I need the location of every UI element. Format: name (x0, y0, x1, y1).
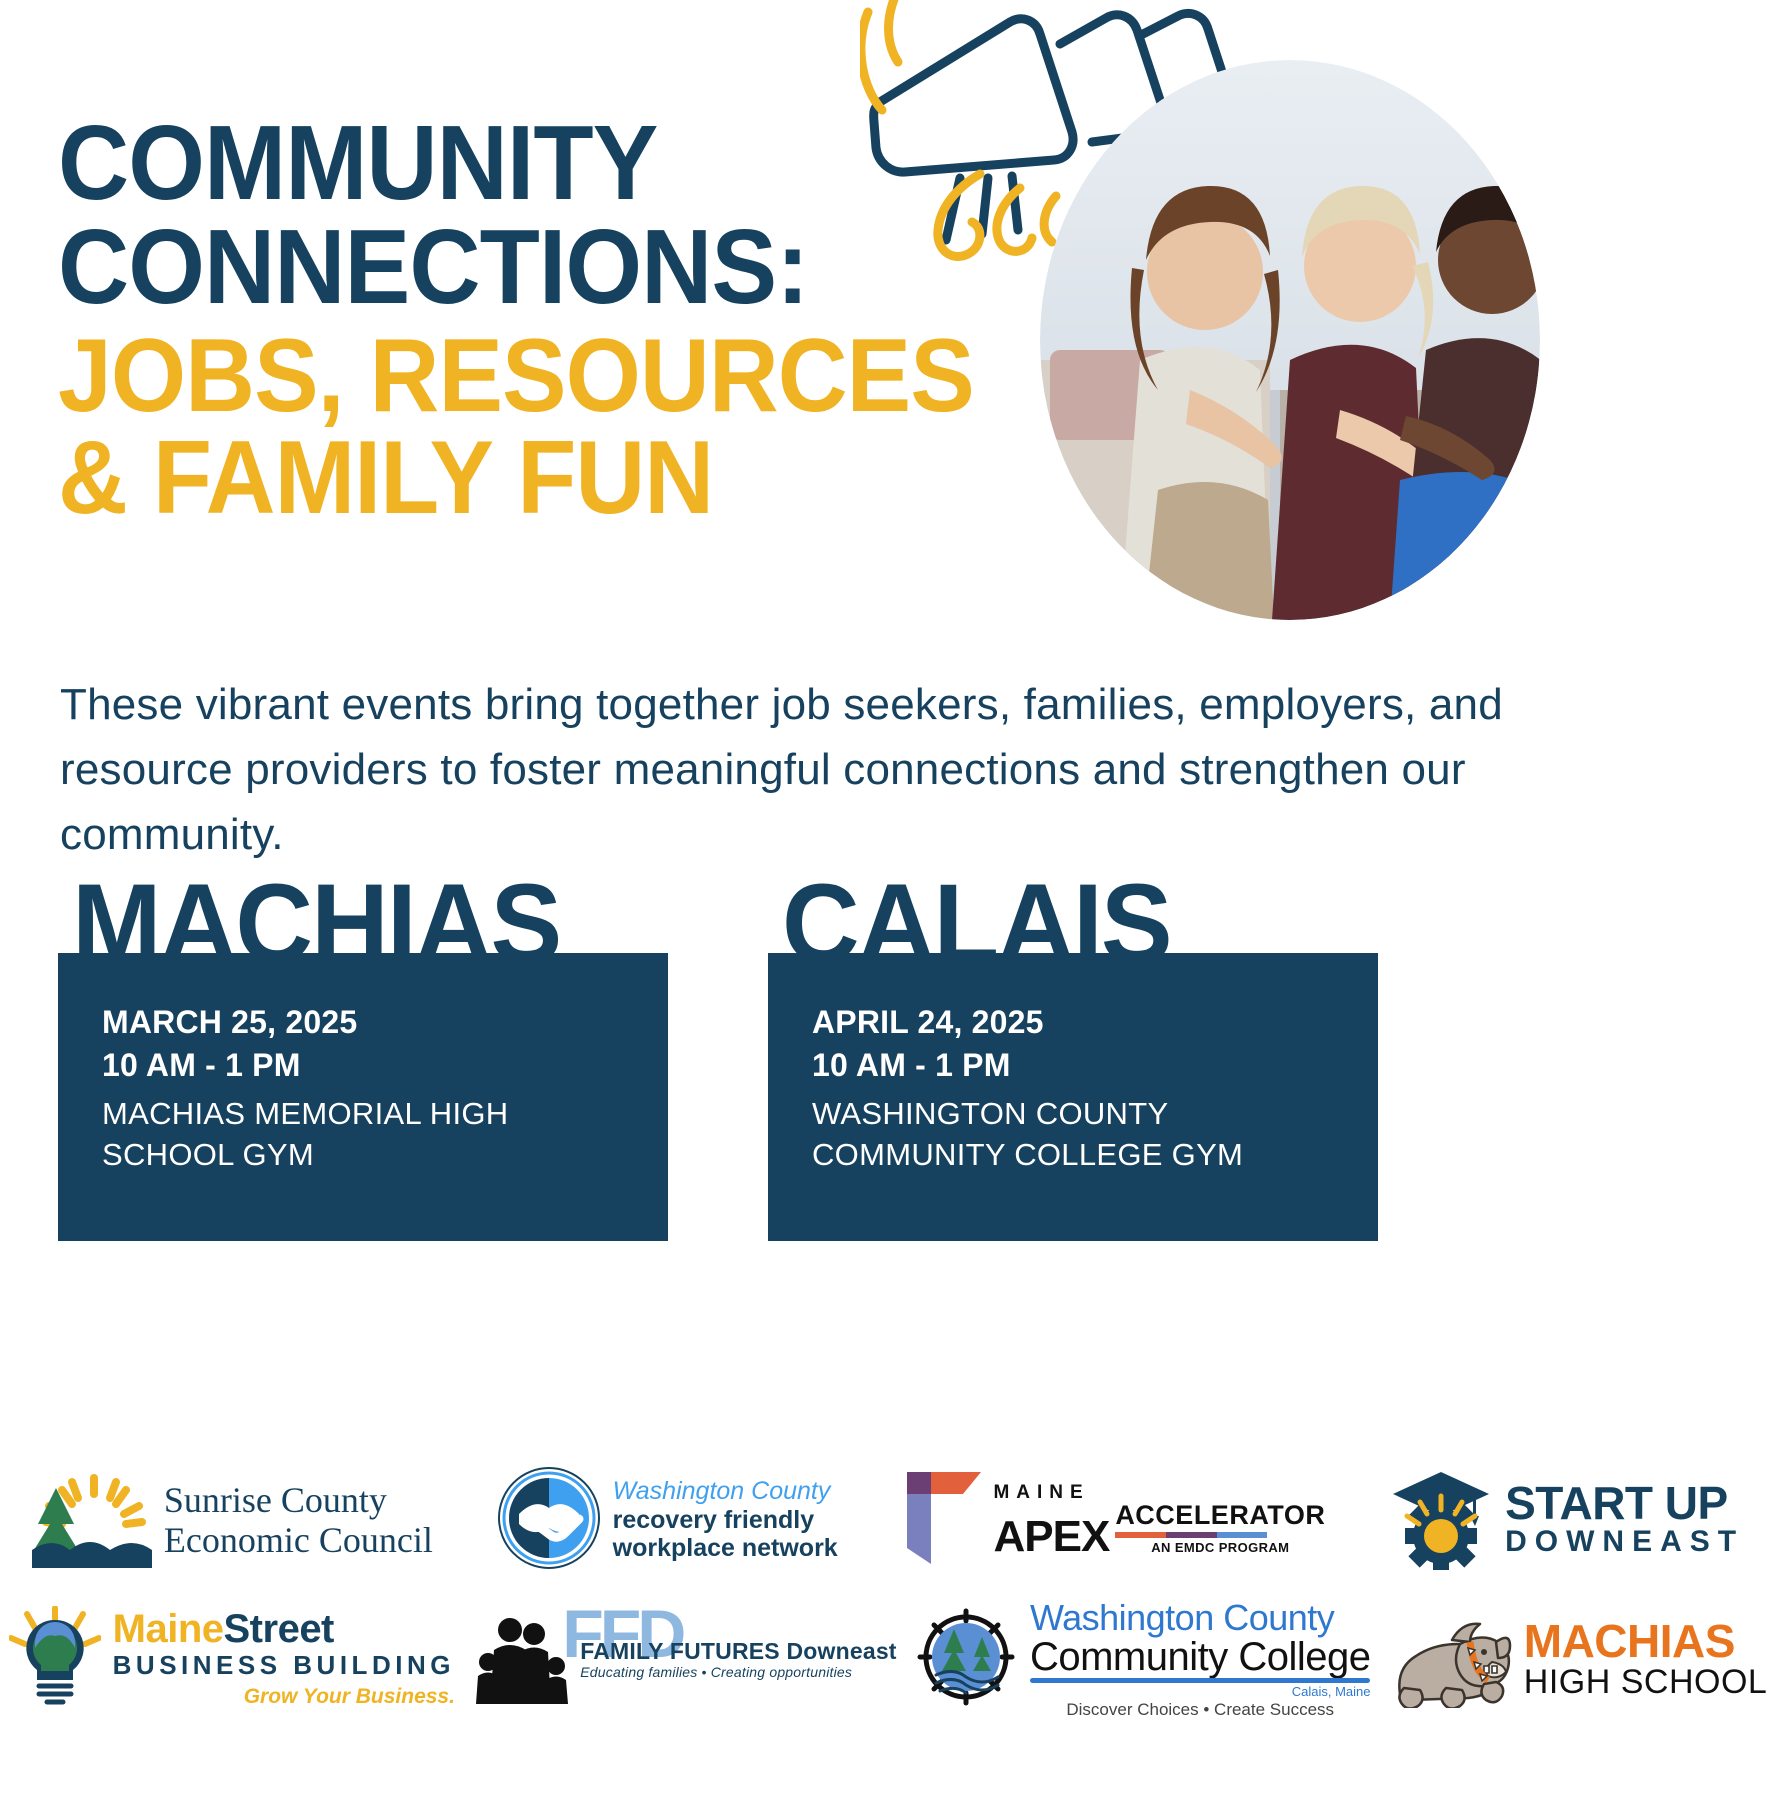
event-venue-line-1: WASHINGTON COUNTY (812, 1093, 1334, 1134)
intro-paragraph: These vibrant events bring together job … (60, 672, 1510, 867)
logo-text-subtitle: AN EMDC PROGRAM (1115, 1540, 1325, 1555)
logo-divider (1030, 1678, 1371, 1683)
event-list: MACHIAS MARCH 25, 2025 10 AM - 1 PM MACH… (58, 872, 1378, 1241)
logo-recovery-friendly-workplace-network: Washington County recovery friendly work… (497, 1466, 838, 1575)
logo-text-line-2: HIGH SCHOOL (1524, 1664, 1768, 1701)
event-details: MARCH 25, 2025 10 AM - 1 PM MACHIAS MEMO… (58, 953, 668, 1241)
event-venue-line-2: COMMUNITY COLLEGE GYM (812, 1134, 1334, 1175)
logo-tagline: Educating families • Creating opportunit… (580, 1664, 896, 1681)
logo-text-family-futures: FAMILY FUTURES (580, 1638, 780, 1664)
logo-start-up-downeast: START UP DOWNEAST (1389, 1466, 1744, 1575)
compass-pines-river-icon (914, 1605, 1018, 1714)
sponsor-row-2: MaineStreet BUSINESS BUILDING Grow Your … (0, 1590, 1776, 1730)
logo-tagline: Grow Your Business. (113, 1683, 455, 1710)
event-card-calais: CALAIS APRIL 24, 2025 10 AM - 1 PM WASHI… (768, 872, 1378, 1241)
logo-text-maine: Maine (113, 1607, 224, 1651)
bulldog-mascot-icon (1388, 1608, 1512, 1713)
page-title: COMMUNITY CONNECTIONS: JOBS, RESOURCES &… (58, 112, 1058, 530)
logo-text-apex: APEX (993, 1516, 1109, 1558)
event-venue-line-2: SCHOOL GYM (102, 1134, 624, 1175)
logo-text-line-2: recovery friendly (613, 1506, 838, 1535)
logo-text-accelerator: ACCELERATOR (1115, 1502, 1325, 1529)
sponsor-logos: Sunrise County Economic Council (0, 1450, 1776, 1730)
logo-family-futures-downeast: FFD FAMILY FUTURES Downeast Educating fa… (472, 1610, 896, 1711)
logo-text-line-2: Community College (1030, 1637, 1371, 1678)
apex-corner-mark-icon (901, 1472, 981, 1569)
handshake-circle-icon (497, 1466, 601, 1575)
logo-text-line-2: DOWNEAST (1505, 1525, 1744, 1558)
logo-text-line-1: Washington County (1030, 1600, 1371, 1637)
logo-text-line-1: MACHIAS (1524, 1619, 1768, 1664)
event-time: 10 AM - 1 PM (812, 1044, 1334, 1087)
logo-washington-county-community-college: Washington County Community College Cala… (914, 1600, 1371, 1720)
headline-line-4: & FAMILY FUN (58, 428, 988, 530)
logo-text-maine: MAINE (993, 1483, 1325, 1502)
logo-text-line-1: Washington County (613, 1477, 838, 1506)
logo-text-line-3: workplace network (613, 1534, 838, 1563)
event-date: APRIL 24, 2025 (812, 1001, 1334, 1044)
accelerator-color-bar (1115, 1532, 1267, 1538)
logo-location: Calais, Maine (1030, 1685, 1371, 1699)
event-details: APRIL 24, 2025 10 AM - 1 PM WASHINGTON C… (768, 953, 1378, 1241)
logo-text-line-2: Economic Council (164, 1520, 433, 1560)
logo-text-line-1: Sunrise County (164, 1480, 433, 1520)
event-city: MACHIAS (72, 872, 644, 975)
logo-mainestreet-business-building: MaineStreet BUSINESS BUILDING Grow Your … (9, 1606, 455, 1715)
logo-text-downeast: Downeast (786, 1638, 896, 1664)
event-time: 10 AM - 1 PM (102, 1044, 624, 1087)
logo-tagline: Discover Choices • Create Success (1030, 1700, 1371, 1720)
grad-cap-gear-sun-icon (1389, 1466, 1493, 1575)
headline-line-1: COMMUNITY (58, 112, 988, 216)
flyer-canvas: COMMUNITY CONNECTIONS: JOBS, RESOURCES &… (0, 0, 1776, 1800)
event-card-machias: MACHIAS MARCH 25, 2025 10 AM - 1 PM MACH… (58, 872, 668, 1241)
headline-line-2: CONNECTIONS: (58, 216, 988, 320)
sponsor-row-1: Sunrise County Economic Council (0, 1450, 1776, 1590)
logo-sunrise-county-economic-council: Sunrise County Economic Council (32, 1468, 433, 1573)
headline-line-3: JOBS, RESOURCES (58, 326, 988, 428)
event-date: MARCH 25, 2025 (102, 1001, 624, 1044)
logo-text-line-1: START UP (1505, 1482, 1744, 1526)
sunrise-pine-wave-icon (32, 1468, 152, 1573)
logo-text-line-1: MaineStreet (113, 1609, 455, 1649)
family-silhouette-icon (472, 1610, 568, 1711)
event-city: CALAIS (782, 872, 1354, 975)
logo-machias-high-school: MACHIAS HIGH SCHOOL (1388, 1608, 1768, 1713)
lightbulb-landscape-icon (9, 1606, 101, 1715)
logo-text-line-1: FAMILY FUTURES Downeast (580, 1639, 896, 1664)
logo-text-street: Street (224, 1607, 334, 1651)
logo-maine-apex-accelerator: MAINE APEX ACCELERATOR AN EMDC PROGRAM (901, 1472, 1325, 1569)
event-venue-line-1: MACHIAS MEMORIAL HIGH (102, 1093, 624, 1134)
logo-text-line-2: BUSINESS BUILDING (113, 1649, 455, 1683)
event-photo (1040, 60, 1540, 620)
